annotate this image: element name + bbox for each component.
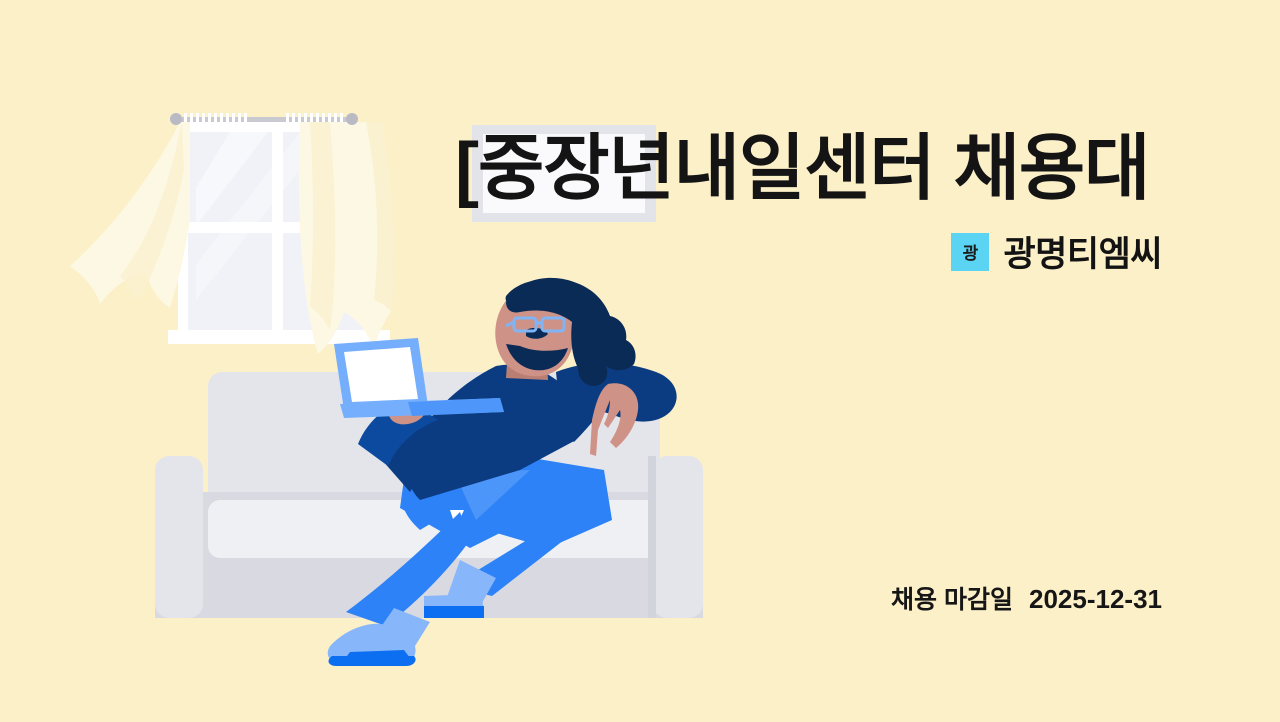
deadline-row: 채용 마감일 2025-12-31 <box>891 580 1162 616</box>
deadline-date: 2025-12-31 <box>1029 584 1162 615</box>
company-badge: 광 <box>951 233 989 271</box>
company-name: 광명티엠씨 <box>1003 226 1162 277</box>
company-row: 광 광명티엠씨 <box>951 226 1162 277</box>
deadline-label: 채용 마감일 <box>891 580 1013 616</box>
page-title: [중장년내일센터 채용대 <box>455 133 1280 205</box>
text-layer: [중장년내일센터 채용대 광 광명티엠씨 채용 마감일 2025-12-31 <box>0 0 1280 722</box>
job-posting-poster: [중장년내일센터 채용대 광 광명티엠씨 채용 마감일 2025-12-31 <box>0 0 1280 722</box>
